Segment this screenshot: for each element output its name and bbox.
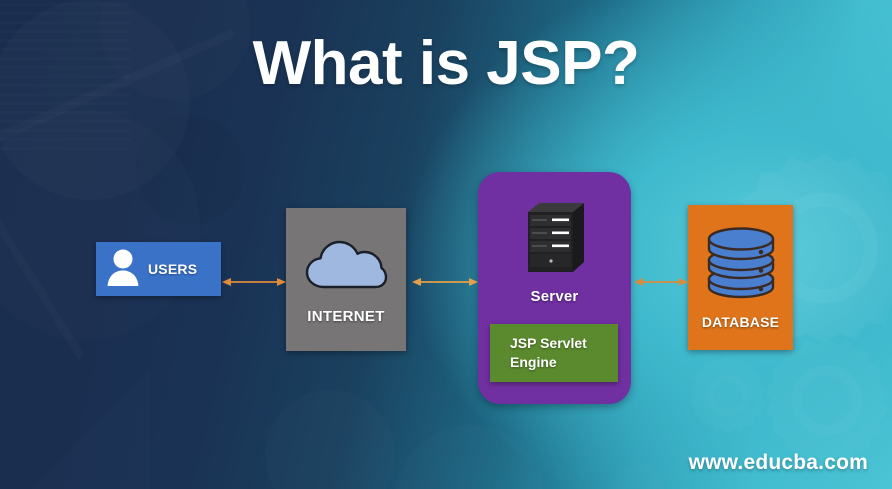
server-rack-icon — [522, 200, 588, 281]
engine-label-line2: Engine — [490, 353, 618, 372]
node-internet[interactable]: INTERNET — [286, 208, 406, 351]
node-database[interactable]: DATABASE — [688, 205, 793, 350]
background-watermark-bottom — [0, 370, 440, 489]
slide-canvas: What is JSP? USERS INTERNET — [0, 0, 892, 489]
node-internet-label: INTERNET — [307, 308, 384, 325]
node-database-label: DATABASE — [702, 314, 779, 330]
engine-label-line1: JSP Servlet — [490, 334, 618, 353]
site-watermark: www.educba.com — [689, 451, 868, 475]
jsp-servlet-engine-box[interactable]: JSP Servlet Engine — [490, 324, 618, 382]
database-cylinder-icon — [705, 225, 777, 304]
cloud-icon — [304, 235, 388, 296]
user-icon — [106, 248, 140, 291]
connector-server-database — [634, 275, 688, 289]
node-server-panel[interactable]: Server JSP Servlet Engine — [478, 172, 631, 404]
connector-internet-server — [412, 275, 478, 289]
node-users-label: USERS — [148, 261, 197, 277]
node-users[interactable]: USERS — [96, 242, 221, 296]
node-server-label: Server — [531, 288, 579, 305]
gear-icon — [682, 352, 774, 444]
page-title: What is JSP? — [0, 28, 892, 99]
connector-users-internet — [222, 275, 286, 289]
